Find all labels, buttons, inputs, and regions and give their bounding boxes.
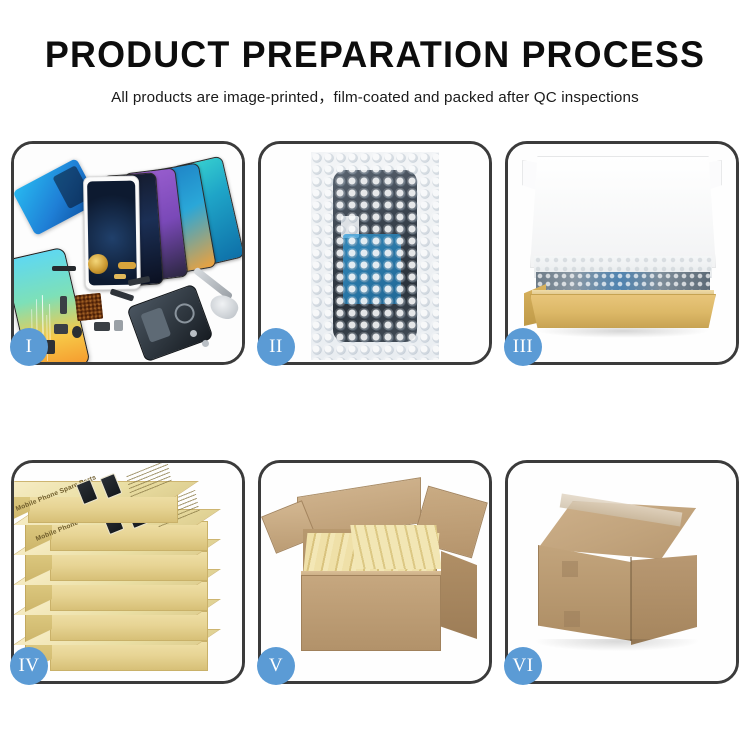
product-preparation-infographic: PRODUCT PREPARATION PROCESS All products… xyxy=(0,0,750,750)
bubble-wrapped-screen-illustration xyxy=(261,144,489,362)
retail-box xyxy=(50,611,208,641)
part-icon xyxy=(114,274,126,279)
retail-box-top-rear: Mobile Phone Spare Parts xyxy=(28,493,178,523)
drop-shadow xyxy=(536,328,710,338)
bubble-highlight-layer xyxy=(311,152,439,360)
step-badge-3: III xyxy=(504,328,542,366)
phone-screen-icon xyxy=(83,176,141,291)
step-panel-6[interactable]: VI xyxy=(505,460,739,684)
box-lid-icon xyxy=(530,156,716,268)
part-icon xyxy=(72,326,82,338)
retail-box xyxy=(50,551,208,581)
open-inner-box-illustration xyxy=(508,144,736,362)
retail-box-top: Mobile Phone Spare Parts xyxy=(50,521,208,551)
step-5-image xyxy=(261,463,489,681)
step-panel-3[interactable]: III xyxy=(505,141,739,365)
page-subtitle: All products are image-printed，film-coat… xyxy=(0,85,750,107)
page-title: PRODUCT PREPARATION PROCESS xyxy=(11,36,739,75)
bubble-wrap-sheet xyxy=(311,152,439,360)
step-panel-4[interactable]: Mobile Phone Spare Parts Mobile Phone Sp… xyxy=(11,460,245,684)
screw-icon xyxy=(202,340,209,347)
step-panel-5[interactable]: V xyxy=(258,460,492,684)
chip-icon xyxy=(75,293,104,322)
open-carton-illustration xyxy=(261,463,489,681)
process-steps-grid: I II xyxy=(11,141,739,684)
step-badge-6: VI xyxy=(504,647,542,685)
packed-retail-boxes xyxy=(350,525,441,569)
step-1-image xyxy=(14,144,242,362)
step-2-image xyxy=(261,144,489,362)
box-front-icon xyxy=(530,294,716,328)
carton-side-panel xyxy=(631,555,697,645)
speaker-coil-icon xyxy=(88,254,108,274)
drop-shadow xyxy=(536,639,698,651)
step-6-image xyxy=(508,463,736,681)
part-icon xyxy=(94,322,110,331)
step-badge-2: II xyxy=(257,328,295,366)
part-icon xyxy=(60,296,67,314)
step-badge-1: I xyxy=(10,328,48,366)
screw-icon xyxy=(190,330,197,337)
step-badge-4: IV xyxy=(10,647,48,685)
retail-box xyxy=(50,581,208,611)
part-icon xyxy=(52,266,76,271)
part-icon xyxy=(118,262,136,269)
carton-front-panel xyxy=(301,575,441,651)
carton-side-panel xyxy=(441,551,477,639)
carton-handle-tab xyxy=(562,561,578,577)
carton-edge-seam xyxy=(630,557,632,641)
step-panel-2[interactable]: II xyxy=(258,141,492,365)
step-panel-1[interactable]: I xyxy=(11,141,245,365)
carton-front-panel xyxy=(538,545,632,641)
carton-handle-tab xyxy=(564,611,580,627)
step-3-image xyxy=(508,144,736,362)
step-badge-5: V xyxy=(257,647,295,685)
retail-box xyxy=(50,641,208,671)
part-icon xyxy=(54,324,68,334)
header: PRODUCT PREPARATION PROCESS All products… xyxy=(0,0,750,107)
stacked-boxes-illustration: Mobile Phone Spare Parts Mobile Phone Sp… xyxy=(14,463,242,681)
sealed-carton-illustration xyxy=(508,463,736,681)
part-icon xyxy=(114,320,123,331)
phones-and-parts-illustration xyxy=(14,144,242,362)
step-4-image: Mobile Phone Spare Parts Mobile Phone Sp… xyxy=(14,463,242,681)
